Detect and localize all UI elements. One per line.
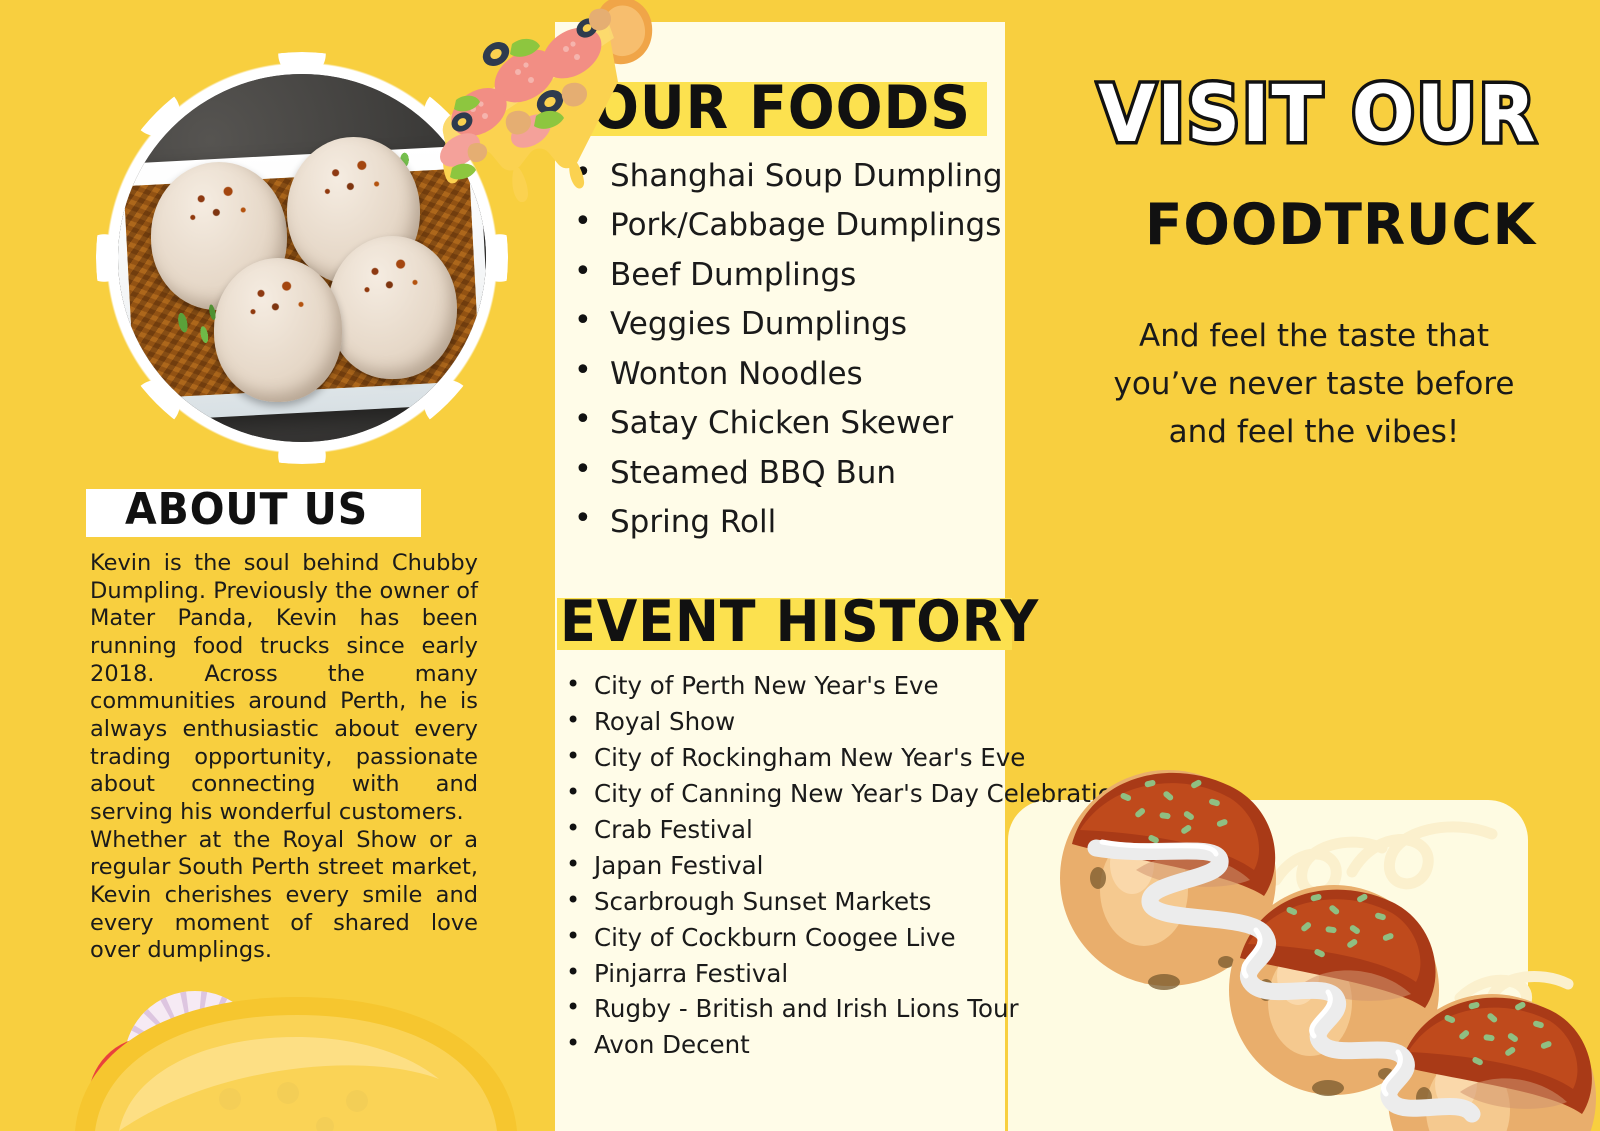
foodtruck-headline: FOODTRUCK: [1145, 192, 1536, 258]
takoyaki-illustration: [1040, 730, 1600, 1131]
brochure-page: ABOUT US Kevin is the soul behind Chubby…: [0, 0, 1600, 1131]
pizza-slice-illustration: [418, 0, 658, 202]
visit-our-headline: VISIT OUR: [1098, 70, 1538, 160]
list-item: Royal Show: [558, 709, 1078, 736]
foods-list: Shanghai Soup Dumpling Pork/Cabbage Dump…: [566, 160, 1006, 556]
list-item: Scarbrough Sunset Markets: [558, 889, 1078, 916]
tagline-text: And feel the taste that you’ve never tas…: [1088, 312, 1540, 456]
list-item: Steamed BBQ Bun: [566, 457, 1006, 490]
list-item: Crab Festival: [558, 817, 1078, 844]
list-item: Satay Chicken Skewer: [566, 407, 1006, 440]
dumpling-3: [328, 236, 457, 380]
list-item: Beef Dumplings: [566, 259, 1006, 292]
list-item: Veggies Dumplings: [566, 308, 1006, 341]
list-item: Rugby - British and Irish Lions Tour: [558, 996, 1078, 1023]
list-item: City of Canning New Year's Day Celebrati…: [558, 781, 1078, 808]
events-list: City of Perth New Year's Eve Royal Show …: [558, 673, 1078, 1068]
list-item: City of Cockburn Coogee Live: [558, 925, 1078, 952]
about-us-heading: ABOUT US: [125, 488, 368, 532]
list-item: Pork/Cabbage Dumplings: [566, 209, 1006, 242]
list-item: City of Perth New Year's Eve: [558, 673, 1078, 700]
list-item: Avon Decent: [558, 1032, 1078, 1059]
event-history-heading: EVENT HISTORY: [560, 594, 1039, 651]
list-item: Wonton Noodles: [566, 358, 1006, 391]
list-item: Pinjarra Festival: [558, 961, 1078, 988]
list-item: City of Rockingham New Year's Eve: [558, 745, 1078, 772]
list-item: Spring Roll: [566, 506, 1006, 539]
taco-illustration: [35, 905, 555, 1131]
list-item: Japan Festival: [558, 853, 1078, 880]
about-us-body: Kevin is the soul behind Chubby Dumpling…: [90, 550, 478, 965]
